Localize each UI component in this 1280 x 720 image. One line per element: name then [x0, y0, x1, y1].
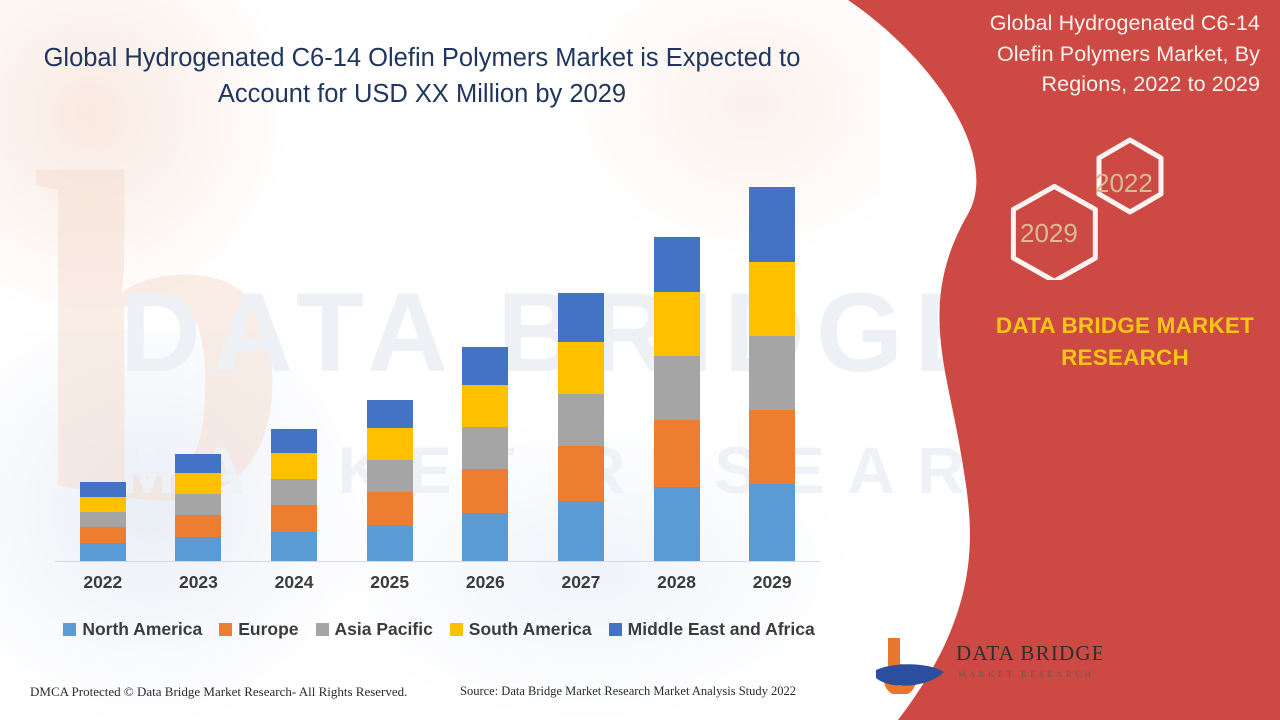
bar-2022 [80, 482, 126, 562]
logo-mark-icon [876, 638, 944, 694]
segment-2029-north-america [749, 484, 795, 562]
x-label-2029: 2029 [737, 572, 807, 593]
logo-tagline: MARKET RESEARCH [958, 669, 1094, 679]
segment-2025-north-america [367, 525, 413, 562]
segment-2027-north-america [558, 501, 604, 562]
hexagon-2029-label: 2029 [1020, 218, 1078, 249]
segment-2022-middle-east-and-africa [80, 482, 126, 497]
chart-legend: North AmericaEuropeAsia PacificSouth Ame… [55, 616, 823, 642]
x-axis-line [55, 561, 820, 562]
bar-2023 [175, 454, 221, 562]
segment-2023-north-america [175, 537, 221, 562]
segment-2024-asia-pacific [271, 479, 317, 505]
footer: DMCA Protected © Data Bridge Market Rese… [0, 684, 845, 708]
segment-2022-asia-pacific [80, 512, 126, 527]
x-label-2028: 2028 [642, 572, 712, 593]
legend-label: North America [82, 619, 202, 640]
legend-item-asia-pacific[interactable]: Asia Pacific [316, 619, 433, 640]
segment-2024-middle-east-and-africa [271, 429, 317, 453]
segment-2025-asia-pacific [367, 460, 413, 492]
bar-2029 [749, 187, 795, 562]
segment-2022-europe [80, 527, 126, 543]
segment-2022-north-america [80, 543, 126, 562]
segment-2026-north-america [462, 513, 508, 562]
segment-2028-europe [654, 420, 700, 487]
segment-2027-middle-east-and-africa [558, 293, 604, 342]
logo-wordmark: DATA BRIDGE [956, 641, 1102, 665]
legend-label: Middle East and Africa [628, 619, 815, 640]
segment-2022-south-america [80, 497, 126, 512]
chart-region: Global Hydrogenated C6-14 Olefin Polymer… [0, 0, 845, 720]
segment-2027-europe [558, 446, 604, 501]
segment-2023-asia-pacific [175, 494, 221, 515]
segment-2029-middle-east-and-africa [749, 187, 795, 262]
segment-2029-europe [749, 410, 795, 484]
legend-swatch-icon [316, 623, 329, 636]
segment-2028-south-america [654, 292, 700, 356]
segment-2025-middle-east-and-africa [367, 400, 413, 428]
legend-label: Asia Pacific [335, 619, 433, 640]
x-axis-labels: 20222023202420252026202720282029 [55, 572, 820, 600]
brand-name: DATA BRIDGE MARKET RESEARCH [975, 310, 1275, 374]
bar-2026 [462, 347, 508, 562]
segment-2023-south-america [175, 473, 221, 494]
legend-label: Europe [238, 619, 298, 640]
x-label-2023: 2023 [163, 572, 233, 593]
infographic-canvas: b DATA BRIDGE MARKET RESEARCH Global Hyd… [0, 0, 1280, 720]
footer-copyright: DMCA Protected © Data Bridge Market Rese… [30, 684, 407, 700]
x-label-2022: 2022 [68, 572, 138, 593]
bar-2025 [367, 400, 413, 562]
x-label-2026: 2026 [450, 572, 520, 593]
x-label-2025: 2025 [355, 572, 425, 593]
x-label-2024: 2024 [259, 572, 329, 593]
legend-swatch-icon [63, 623, 76, 636]
page-title: Global Hydrogenated C6-14 Olefin Polymer… [42, 40, 802, 112]
legend-swatch-icon [219, 623, 232, 636]
segment-2028-north-america [654, 487, 700, 562]
segment-2025-europe [367, 492, 413, 525]
legend-label: South America [469, 619, 592, 640]
footer-source: Source: Data Bridge Market Research Mark… [460, 684, 796, 699]
company-logo: DATA BRIDGE MARKET RESEARCH [872, 632, 1102, 694]
segment-2029-south-america [749, 262, 795, 336]
segment-2028-asia-pacific [654, 356, 700, 420]
segment-2025-south-america [367, 428, 413, 460]
x-label-2027: 2027 [546, 572, 616, 593]
bar-2024 [271, 429, 317, 562]
segment-2026-europe [462, 469, 508, 513]
bar-2027 [558, 293, 604, 562]
segment-2026-south-america [462, 385, 508, 427]
segment-2023-europe [175, 515, 221, 537]
segment-2027-south-america [558, 342, 604, 394]
hexagon-2022-label: 2022 [1095, 168, 1153, 199]
legend-item-europe[interactable]: Europe [219, 619, 298, 640]
legend-item-south-america[interactable]: South America [450, 619, 592, 640]
hexagon-badges [975, 130, 1195, 280]
segment-2027-asia-pacific [558, 394, 604, 446]
panel-title: Global Hydrogenated C6-14 Olefin Polymer… [940, 8, 1260, 100]
legend-item-middle-east-and-africa[interactable]: Middle East and Africa [609, 619, 815, 640]
segment-2026-middle-east-and-africa [462, 347, 508, 385]
segment-2028-middle-east-and-africa [654, 237, 700, 292]
segment-2026-asia-pacific [462, 427, 508, 469]
segment-2024-south-america [271, 453, 317, 479]
segment-2029-asia-pacific [749, 336, 795, 410]
segment-2023-middle-east-and-africa [175, 454, 221, 473]
stacked-bar-plot [55, 170, 820, 562]
segment-2024-europe [271, 505, 317, 532]
legend-swatch-icon [450, 623, 463, 636]
legend-item-north-america[interactable]: North America [63, 619, 202, 640]
segment-2024-north-america [271, 532, 317, 562]
bar-2028 [654, 237, 700, 562]
legend-swatch-icon [609, 623, 622, 636]
